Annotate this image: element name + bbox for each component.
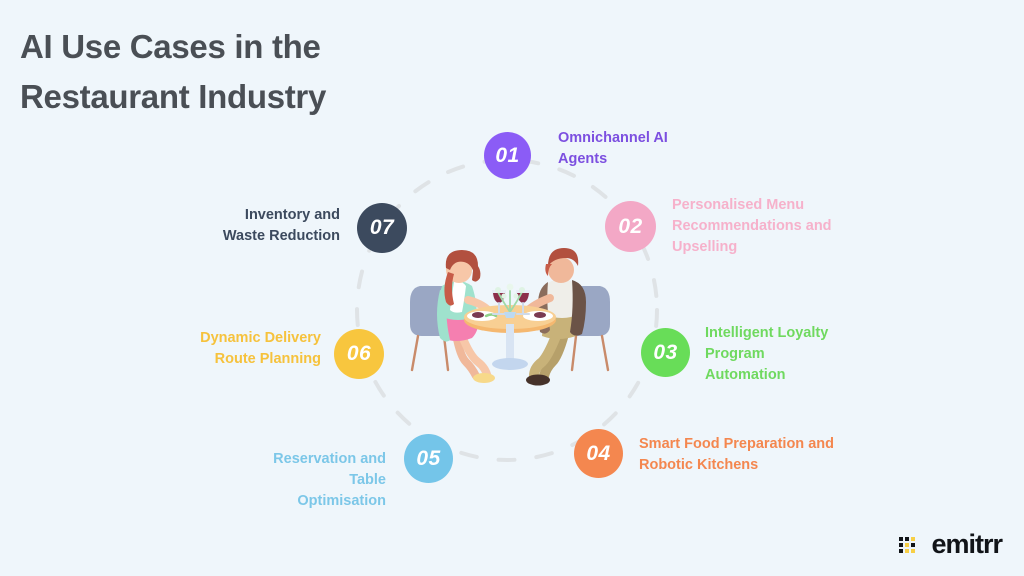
node-circle-03[interactable]: 03 <box>641 328 690 377</box>
node-label-07: Inventory and Waste Reduction <box>150 205 340 247</box>
emitrr-dot-grid-mark <box>898 532 924 558</box>
node-number-05: 05 <box>416 447 440 471</box>
node-number-02: 02 <box>618 215 642 239</box>
node-number-07: 07 <box>370 216 394 240</box>
node-circle-05[interactable]: 05 <box>404 434 453 483</box>
node-label-02: Personalised Menu Recommendations and Up… <box>672 195 882 258</box>
page-title: AI Use Cases in the Restaurant Industry <box>20 22 580 122</box>
page-title-line-2: Restaurant Industry <box>20 72 580 122</box>
node-circle-07[interactable]: 07 <box>357 203 407 253</box>
node-number-04: 04 <box>586 442 610 466</box>
node-circle-06[interactable]: 06 <box>334 329 384 379</box>
couple-dining-illustration <box>404 238 616 388</box>
node-label-03: Intelligent Loyalty Program Automation <box>705 323 895 386</box>
node-circle-01[interactable]: 01 <box>484 132 531 179</box>
node-label-04: Smart Food Preparation and Robotic Kitch… <box>639 434 889 476</box>
node-number-03: 03 <box>653 341 677 365</box>
emitrr-logo: emitrr <box>898 529 1002 560</box>
node-label-05: Reservation and Table Optimisation <box>200 449 386 512</box>
emitrr-logo-text: emitrr <box>931 529 1002 560</box>
node-circle-04[interactable]: 04 <box>574 429 623 478</box>
infographic-slide: AI Use Cases in the Restaurant Industry <box>0 0 1024 576</box>
node-label-01: Omnichannel AI Agents <box>558 128 758 170</box>
node-label-06: Dynamic Delivery Route Planning <box>140 328 321 370</box>
node-circle-02[interactable]: 02 <box>605 201 656 252</box>
page-title-line-1: AI Use Cases in the <box>20 22 580 72</box>
node-number-01: 01 <box>495 144 519 168</box>
node-number-06: 06 <box>347 342 371 366</box>
